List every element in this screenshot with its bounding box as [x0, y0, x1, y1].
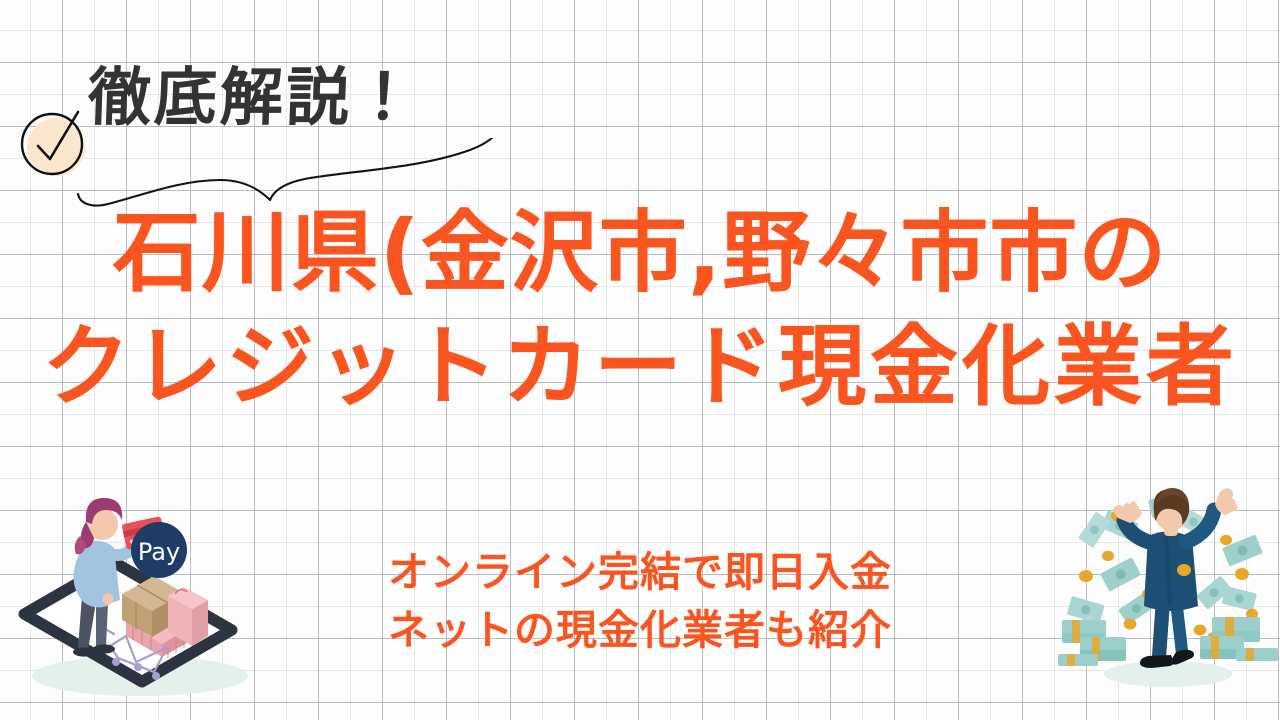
mobile-shopping-illustration: Pay: [18, 486, 268, 701]
headline-line-2: クレジットカード現金化業者: [0, 310, 1280, 424]
page-title: 石川県(金沢市,野々市市の クレジットカード現金化業者: [0, 196, 1280, 425]
money-celebration-illustration: [1056, 478, 1280, 700]
pay-badge-label: Pay: [138, 538, 180, 566]
eyebrow-text: 徹底解説！: [87, 66, 419, 129]
thumbnail-canvas: 徹底解説！ 石川県(金沢市,野々市市の クレジットカード現金化業者 オンライン完…: [0, 0, 1280, 720]
headline-line-1: 石川県(金沢市,野々市市の: [0, 196, 1280, 310]
